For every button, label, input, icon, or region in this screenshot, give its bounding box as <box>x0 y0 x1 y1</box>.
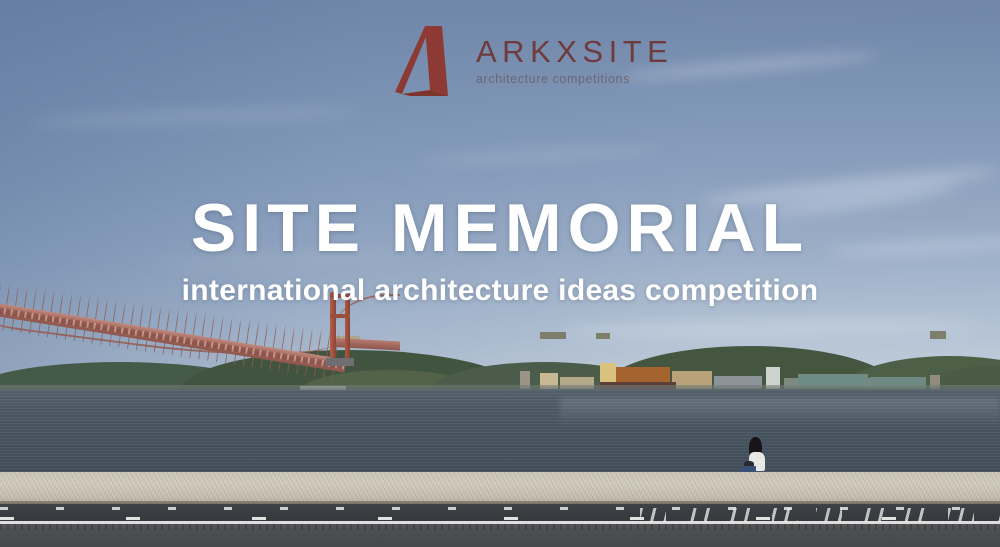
bridge-tower-base <box>326 358 354 366</box>
ridge-building <box>540 332 566 339</box>
brand-logo[interactable]: ARKXSITE architecture competitions <box>392 24 673 98</box>
ridge-building <box>596 333 610 339</box>
ridge-building <box>930 331 946 339</box>
road-gravel-edge <box>0 524 1000 530</box>
water-reflection <box>560 398 1000 426</box>
arkxsite-a-mark-icon <box>392 24 462 98</box>
bridge-tower-crossbeam <box>330 314 350 318</box>
page-subtitle: international architecture ideas competi… <box>0 276 1000 306</box>
brand-name: ARKXSITE <box>476 36 673 67</box>
stone-promenade <box>0 472 1000 504</box>
bridge-deck <box>334 338 400 351</box>
person-sitting <box>741 437 775 473</box>
page-title: SITE MEMORIAL <box>0 194 1000 262</box>
road-marking-dashes <box>0 517 1000 520</box>
brand-text: ARKXSITE architecture competitions <box>476 36 673 86</box>
brand-tagline: architecture competitions <box>476 73 673 86</box>
poster-canvas: ARKXSITE architecture competitions SITE … <box>0 0 1000 547</box>
